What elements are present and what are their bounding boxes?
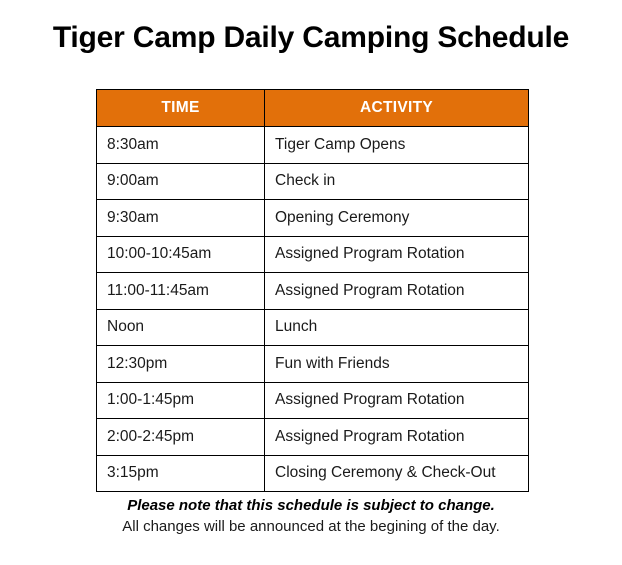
table-row: 3:15pm Closing Ceremony & Check-Out [97, 455, 529, 492]
cell-time: 2:00-2:45pm [97, 419, 265, 456]
table-row: 8:30am Tiger Camp Opens [97, 127, 529, 164]
table-row: 1:00-1:45pm Assigned Program Rotation [97, 382, 529, 419]
cell-activity: Lunch [265, 309, 529, 346]
table-row: 11:00-11:45am Assigned Program Rotation [97, 273, 529, 310]
table-header: TIME ACTIVITY [97, 90, 529, 127]
table-body: 8:30am Tiger Camp Opens 9:00am Check in … [97, 127, 529, 492]
table-row: Noon Lunch [97, 309, 529, 346]
table-row: 12:30pm Fun with Friends [97, 346, 529, 383]
cell-time: Noon [97, 309, 265, 346]
cell-time: 9:30am [97, 200, 265, 237]
cell-time: 8:30am [97, 127, 265, 164]
cell-activity: Closing Ceremony & Check-Out [265, 455, 529, 492]
column-header-time: TIME [97, 90, 265, 127]
cell-activity: Opening Ceremony [265, 200, 529, 237]
footnote-announcement: All changes will be announced at the beg… [0, 516, 622, 538]
column-header-activity: ACTIVITY [265, 90, 529, 127]
cell-activity: Assigned Program Rotation [265, 382, 529, 419]
table-row: 2:00-2:45pm Assigned Program Rotation [97, 419, 529, 456]
cell-time: 10:00-10:45am [97, 236, 265, 273]
table-header-row: TIME ACTIVITY [97, 90, 529, 127]
cell-activity: Tiger Camp Opens [265, 127, 529, 164]
table-row: 9:30am Opening Ceremony [97, 200, 529, 237]
cell-time: 11:00-11:45am [97, 273, 265, 310]
footnotes: Please note that this schedule is subjec… [0, 495, 622, 538]
cell-activity: Assigned Program Rotation [265, 419, 529, 456]
cell-activity: Assigned Program Rotation [265, 273, 529, 310]
cell-activity: Check in [265, 163, 529, 200]
table-row: 9:00am Check in [97, 163, 529, 200]
cell-activity: Assigned Program Rotation [265, 236, 529, 273]
cell-time: 3:15pm [97, 455, 265, 492]
daily-schedule-table: TIME ACTIVITY 8:30am Tiger Camp Opens 9:… [96, 89, 529, 492]
page-title: Tiger Camp Daily Camping Schedule [0, 21, 622, 55]
cell-activity: Fun with Friends [265, 346, 529, 383]
cell-time: 1:00-1:45pm [97, 382, 265, 419]
footnote-subject-to-change: Please note that this schedule is subjec… [0, 495, 622, 516]
cell-time: 9:00am [97, 163, 265, 200]
schedule-page: Tiger Camp Daily Camping Schedule TIME A… [0, 0, 622, 565]
cell-time: 12:30pm [97, 346, 265, 383]
table-row: 10:00-10:45am Assigned Program Rotation [97, 236, 529, 273]
